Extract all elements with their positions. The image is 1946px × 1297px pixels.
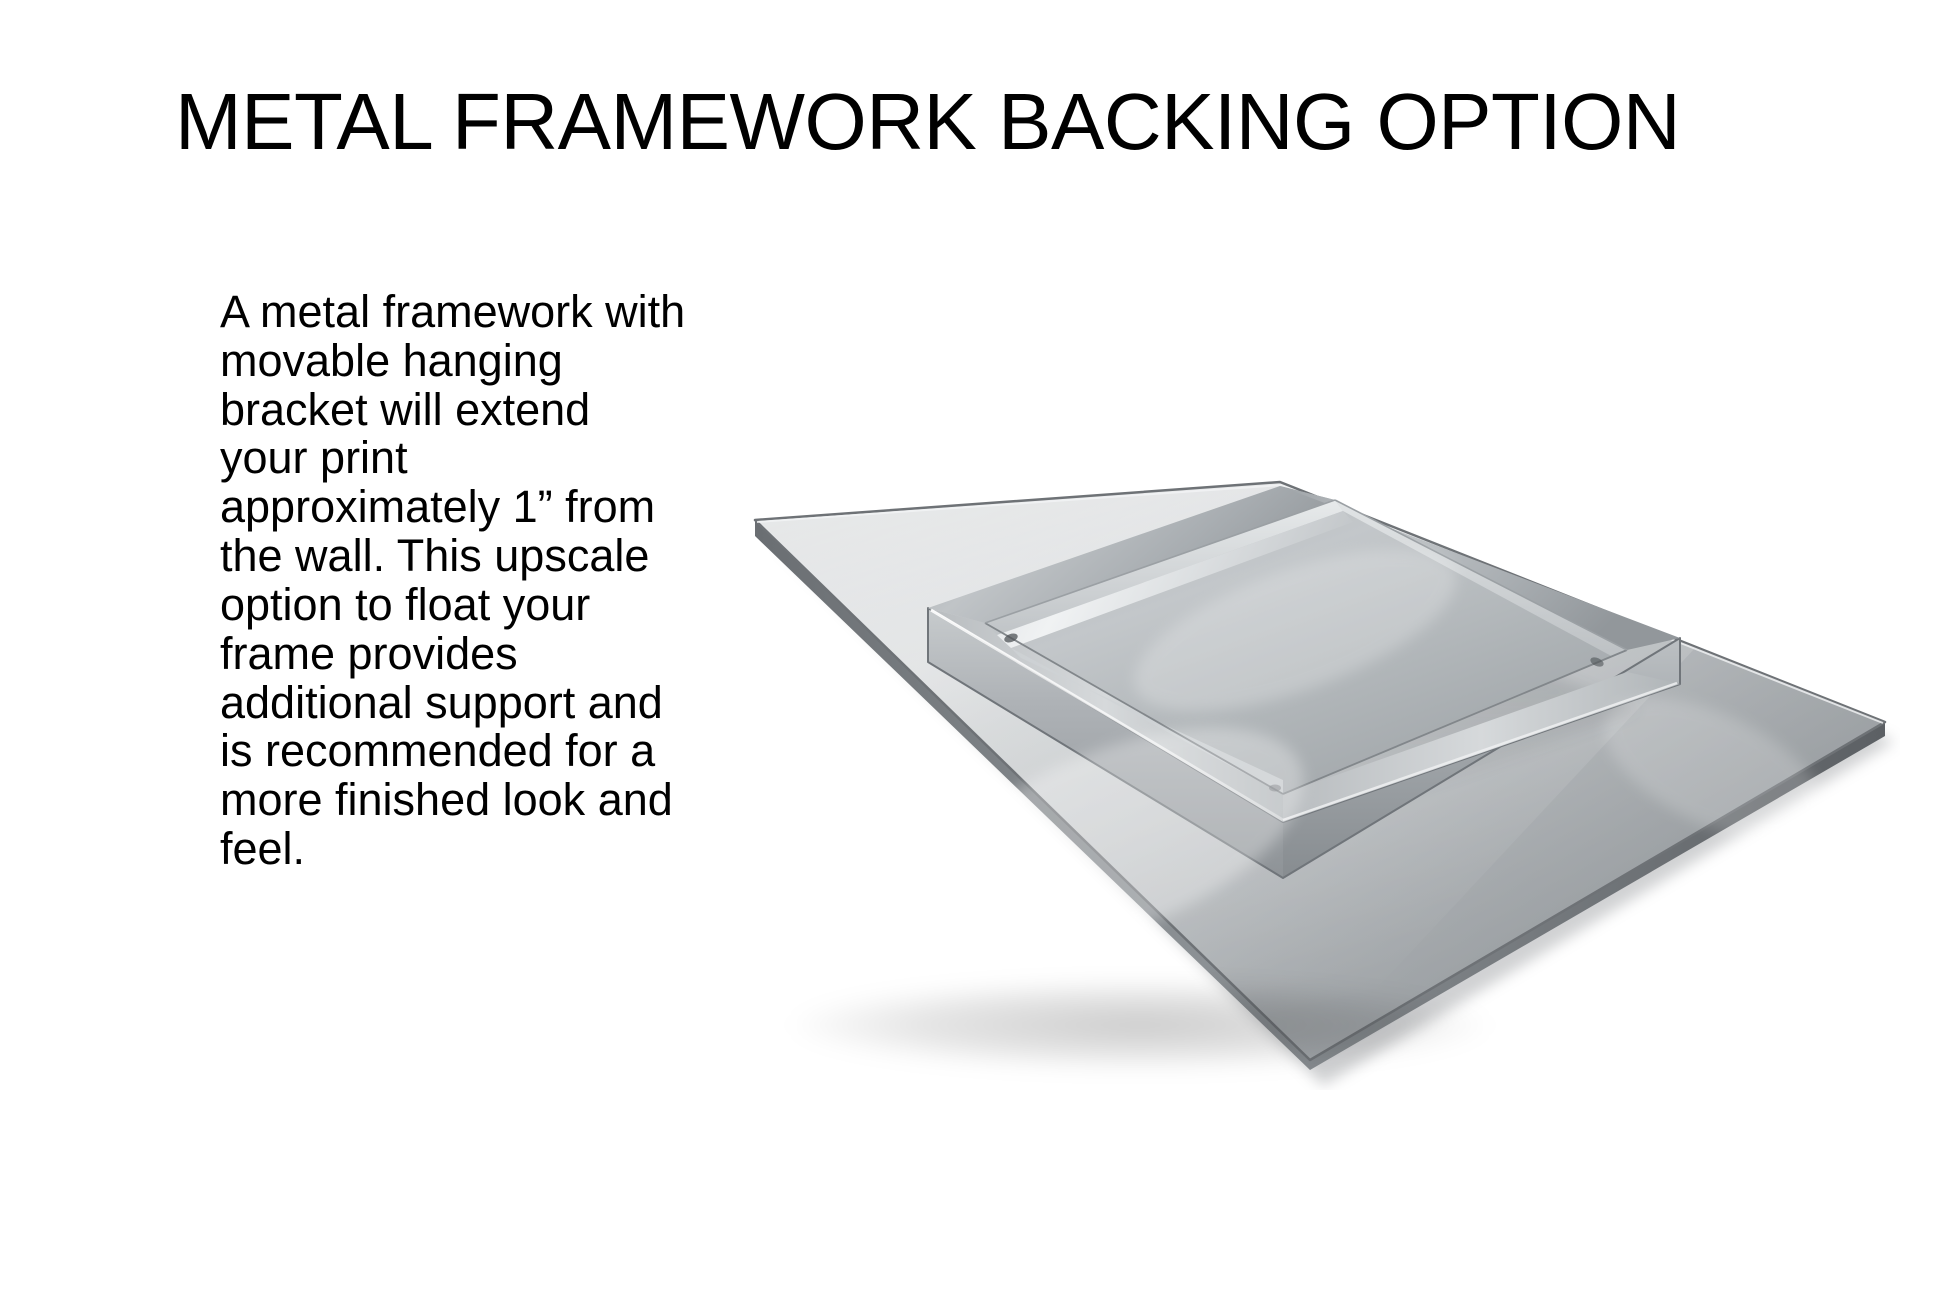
body-text-block: A metal framework with movable hanging b… xyxy=(220,288,690,874)
metal-framework-illustration xyxy=(735,370,1900,1090)
product-photo xyxy=(735,370,1900,1090)
body-paragraph: A metal framework with movable hanging b… xyxy=(220,288,690,874)
slide-title: METAL FRAMEWORK BACKING OPTION xyxy=(175,82,1815,162)
presentation-slide: METAL FRAMEWORK BACKING OPTION A metal f… xyxy=(0,0,1946,1297)
